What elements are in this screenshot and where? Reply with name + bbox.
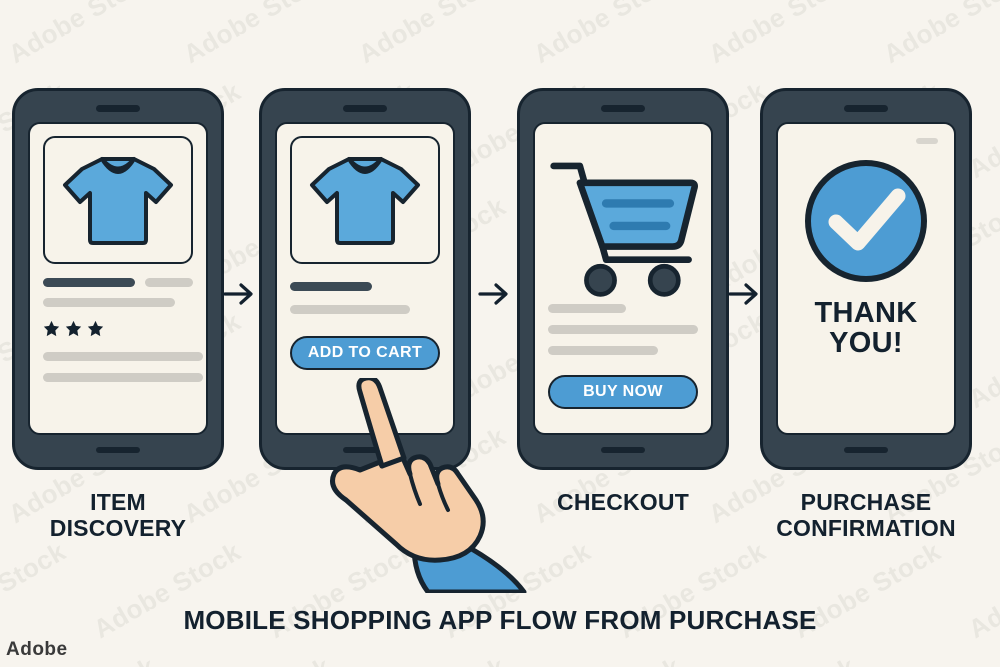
step-label-line: CONFIRMATION <box>760 516 972 542</box>
step-label-item-discovery: ITEM DISCOVERY <box>12 490 224 542</box>
watermark-tile: Adobe Stock <box>528 651 686 667</box>
phone-home-bar-icon <box>601 447 645 453</box>
step-label-purchase-confirmation: PURCHASE CONFIRMATION <box>760 490 972 542</box>
watermark-tile: Adobe Stock <box>878 651 1000 667</box>
phone-speaker-icon <box>601 105 645 112</box>
phone-screen-product-cta: ADD TO CART <box>275 122 455 435</box>
illustration-canvas: Adobe StockAdobe StockAdobe StockAdobe S… <box>0 0 1000 667</box>
buy-now-button[interactable]: BUY NOW <box>548 375 698 409</box>
right-arrow-icon <box>477 279 511 309</box>
phone-speaker-icon <box>96 105 140 112</box>
step-label-checkout: CHECKOUT <box>517 490 729 516</box>
skeleton-bar <box>290 305 410 314</box>
skeleton-bar <box>145 278 193 287</box>
step-label-line: ITEM <box>12 490 224 516</box>
right-arrow-icon <box>222 279 256 309</box>
shopping-cart-icon <box>548 150 698 300</box>
thank-you-line: THANK <box>815 298 918 328</box>
arrow-step-3-to-4 <box>727 279 761 309</box>
skeleton-bar <box>548 325 698 334</box>
step-add-to-cart: ADD TO CART <box>259 88 471 490</box>
watermark-tile: Adobe Stock <box>3 651 161 667</box>
phone-home-bar-icon <box>96 447 140 453</box>
step-label-line: PURCHASE <box>760 490 972 516</box>
phone-frame: THANK YOU! <box>760 88 972 470</box>
product-image-frame[interactable] <box>290 136 440 264</box>
phone-screen-product-detail <box>28 122 208 435</box>
phone-frame: ADD TO CART <box>259 88 471 470</box>
phone-frame <box>12 88 224 470</box>
star-icon <box>43 320 60 337</box>
tshirt-icon <box>307 152 423 248</box>
phone-speaker-icon <box>343 105 387 112</box>
right-arrow-icon <box>727 279 761 309</box>
rating-stars[interactable] <box>43 320 193 337</box>
watermark-bottom-text: Adobe <box>6 639 68 661</box>
skeleton-bar <box>43 298 175 307</box>
step-label-line: CHECKOUT <box>517 490 729 516</box>
add-to-cart-button[interactable]: ADD TO CART <box>290 336 440 370</box>
skeleton-bar <box>290 282 372 291</box>
product-image-frame[interactable] <box>43 136 193 264</box>
check-circle-icon <box>803 158 929 284</box>
arrow-step-2-to-3 <box>477 279 511 309</box>
step-item-discovery: ITEM DISCOVERY <box>12 88 224 542</box>
phone-screen-cart: BUY NOW <box>533 122 713 435</box>
thank-you-line: YOU! <box>815 328 918 358</box>
phone-home-bar-icon <box>844 447 888 453</box>
watermark-tile: Adobe Stock <box>703 651 861 667</box>
watermark-tile: Adobe Stock <box>178 651 336 667</box>
phone-screen-confirmation: THANK YOU! <box>776 122 956 435</box>
step-purchase-confirmation: THANK YOU! PURCHASE CONFIRMATION <box>760 88 972 542</box>
skeleton-bar <box>548 346 658 355</box>
phone-speaker-icon <box>844 105 888 112</box>
watermark-tile: Adobe Stock <box>353 651 511 667</box>
step-checkout: BUY NOW CHECKOUT <box>517 88 729 516</box>
status-indicator-pill <box>916 138 938 144</box>
star-icon <box>65 320 82 337</box>
tshirt-icon <box>60 152 176 248</box>
thank-you-message: THANK YOU! <box>815 298 918 359</box>
skeleton-bar <box>43 278 135 287</box>
skeleton-bar <box>548 304 626 313</box>
star-icon <box>87 320 104 337</box>
arrow-step-1-to-2 <box>222 279 256 309</box>
skeleton-bar <box>43 373 203 382</box>
phone-frame: BUY NOW <box>517 88 729 470</box>
skeleton-row-title <box>43 278 193 287</box>
footer-caption: MOBILE SHOPPING APP FLOW FROM PURCHASE <box>0 605 1000 636</box>
shopping-flow: ITEM DISCOVERY <box>0 0 1000 600</box>
phone-home-bar-icon <box>343 447 387 453</box>
step-label-line: DISCOVERY <box>12 516 224 542</box>
skeleton-bar <box>43 352 203 361</box>
